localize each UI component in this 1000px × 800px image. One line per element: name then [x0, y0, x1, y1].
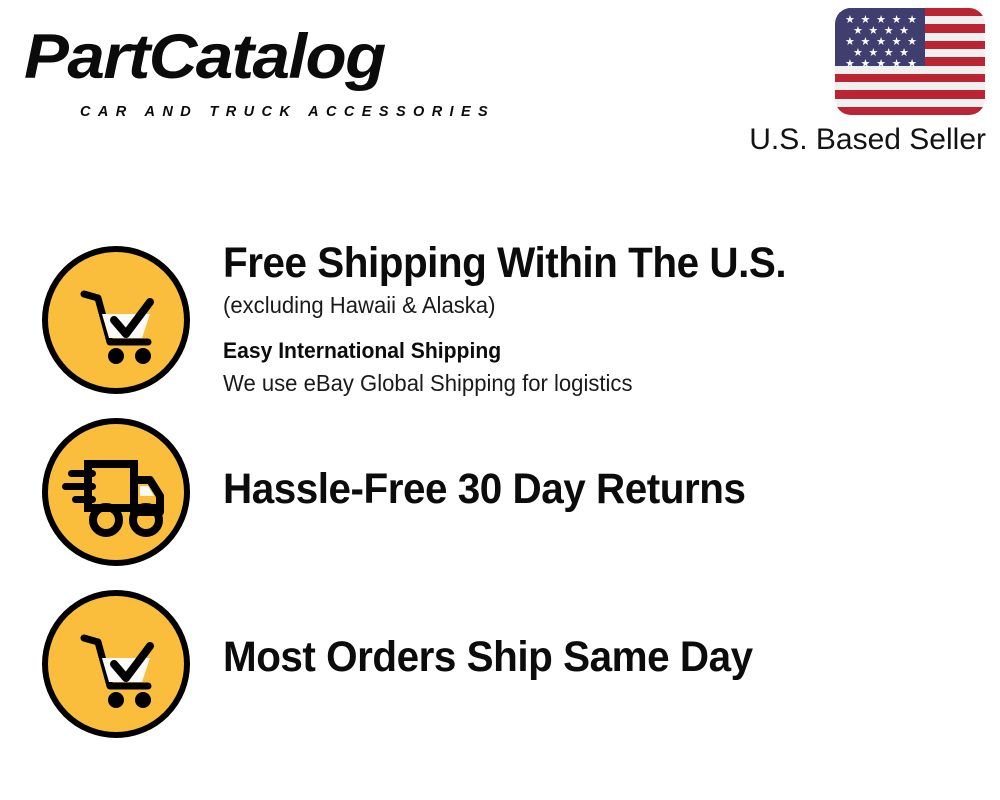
feature-row-free-shipping: Free Shipping Within The U.S. (excluding…	[0, 238, 1000, 410]
shipping-info-banner: PartCatalog CAR AND TRUCK ACCESSORIES	[0, 0, 1000, 800]
feature-list: Free Shipping Within The U.S. (excluding…	[0, 0, 1000, 800]
feature-text-same-day: Most Orders Ship Same Day	[223, 632, 980, 682]
feature-headline: Most Orders Ship Same Day	[223, 632, 935, 682]
feature-subdetail: We use eBay Global Shipping for logistic…	[223, 368, 950, 398]
feature-row-returns: Hassle-Free 30 Day Returns	[0, 416, 1000, 574]
feature-text-returns: Hassle-Free 30 Day Returns	[223, 464, 980, 514]
delivery-truck-icon	[42, 418, 190, 566]
feature-subnote: (excluding Hawaii & Alaska)	[223, 290, 950, 320]
cart-check-icon	[42, 590, 190, 738]
feature-row-same-day: Most Orders Ship Same Day	[0, 588, 1000, 746]
cart-check-icon	[42, 246, 190, 394]
feature-headline: Free Shipping Within The U.S.	[223, 238, 935, 288]
feature-headline: Hassle-Free 30 Day Returns	[223, 464, 935, 514]
feature-text-free-shipping: Free Shipping Within The U.S. (excluding…	[223, 238, 980, 398]
feature-subtitle: Easy International Shipping	[223, 336, 950, 366]
